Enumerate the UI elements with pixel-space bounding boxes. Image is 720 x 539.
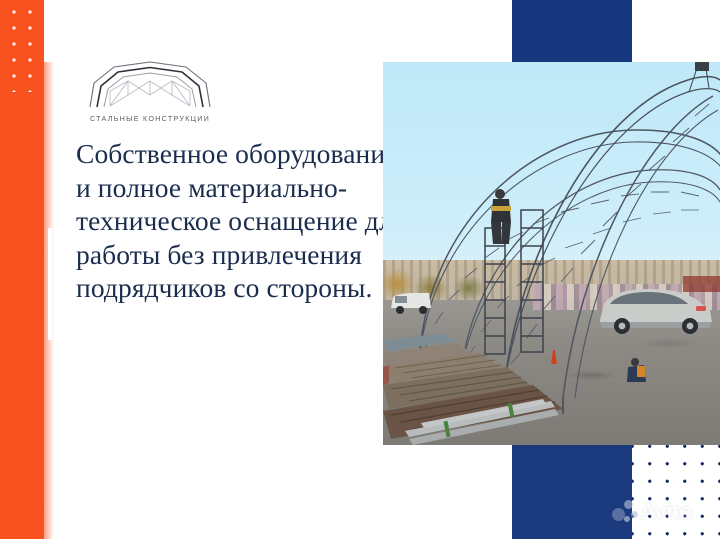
- construction-site-photo: [383, 62, 720, 445]
- brand-logo: СТАЛЬНЫЕ КОНСТРУКЦИИ: [84, 57, 216, 129]
- promo-slide: СТАЛЬНЫЕ КОНСТРУКЦИИ Собственное оборудо…: [0, 0, 720, 539]
- steel-arch-truss-icon: [84, 57, 216, 113]
- photo-crouching-worker: [627, 358, 646, 382]
- headline-text: Собственное оборудование и полное матери…: [76, 137, 406, 305]
- white-accent-rule: [48, 228, 52, 340]
- photo-white-van: [389, 290, 433, 316]
- photo-silver-suv: [596, 280, 714, 336]
- navy-block-bottom-right: [512, 445, 632, 539]
- photo-pallets-and-beams: [383, 327, 573, 445]
- photo-worker-on-ladder: [491, 189, 511, 244]
- navy-block-top-right: [512, 0, 632, 62]
- navy-dot-grid: [632, 445, 720, 539]
- header-white-space: [44, 0, 512, 62]
- brand-wordmark: СТАЛЬНЫЕ КОНСТРУКЦИИ: [84, 114, 216, 123]
- orange-bar-dot-pattern: [4, 0, 48, 92]
- left-orange-bar: [0, 0, 44, 539]
